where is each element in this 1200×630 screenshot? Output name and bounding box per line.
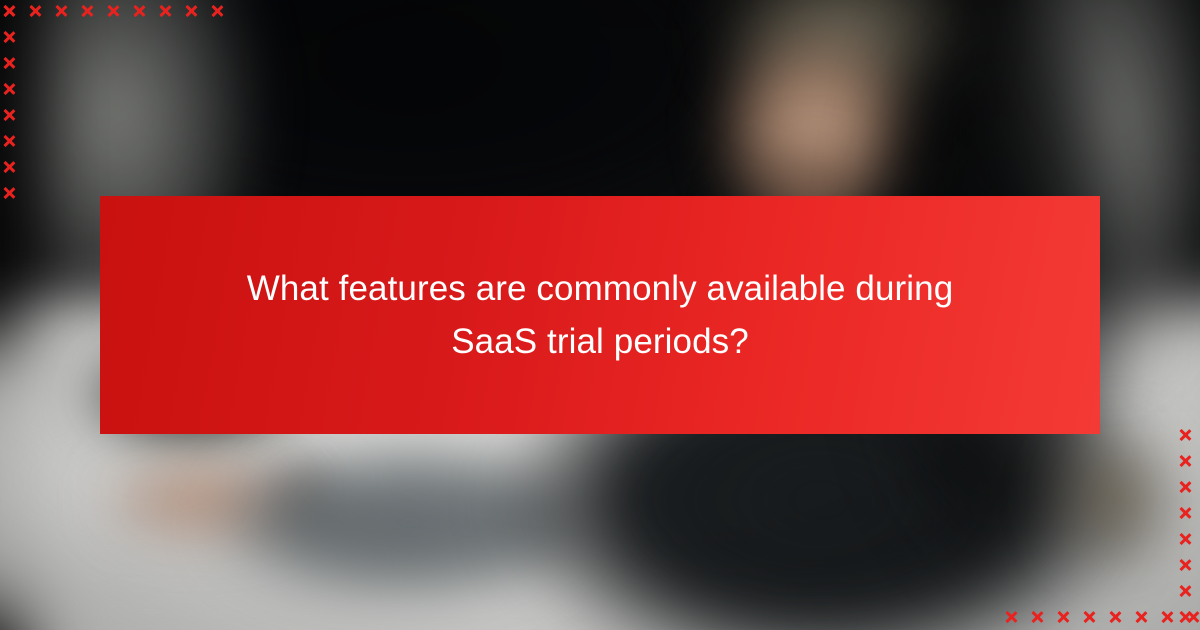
x-cross-icon xyxy=(132,4,146,18)
x-cross-icon xyxy=(2,108,16,122)
x-cross-icon xyxy=(1178,584,1192,598)
x-cross-icon xyxy=(1178,610,1192,624)
x-cross-icon xyxy=(184,4,198,18)
x-cross-icon xyxy=(1082,610,1096,624)
x-cross-icon xyxy=(2,56,16,70)
headline-banner: What features are commonly available dur… xyxy=(100,196,1100,434)
x-cross-icon xyxy=(158,4,172,18)
x-cross-icon xyxy=(1030,610,1044,624)
x-cross-icon xyxy=(2,82,16,96)
x-cross-icon xyxy=(1178,480,1192,494)
x-cross-icon xyxy=(2,30,16,44)
x-cross-icon xyxy=(1056,610,1070,624)
x-cross-icon xyxy=(2,186,16,200)
x-cross-icon xyxy=(1178,532,1192,546)
x-cross-icon xyxy=(1108,610,1122,624)
x-cross-icon xyxy=(2,160,16,174)
x-cross-icon xyxy=(1178,506,1192,520)
x-cross-icon xyxy=(1160,610,1174,624)
social-share-card: What features are commonly available dur… xyxy=(0,0,1200,630)
x-cross-icon xyxy=(1004,610,1018,624)
x-cross-icon xyxy=(80,4,94,18)
x-cross-icon xyxy=(1178,428,1192,442)
x-cross-icon xyxy=(54,4,68,18)
x-cross-icon xyxy=(28,4,42,18)
x-cross-icon xyxy=(1134,610,1148,624)
x-cross-icon xyxy=(210,4,224,18)
x-cross-icon xyxy=(1178,454,1192,468)
x-cross-icon xyxy=(1178,558,1192,572)
page-title: What features are commonly available dur… xyxy=(200,262,1000,368)
x-cross-icon xyxy=(106,4,120,18)
x-cross-icon xyxy=(2,4,16,18)
x-cross-icon xyxy=(2,134,16,148)
